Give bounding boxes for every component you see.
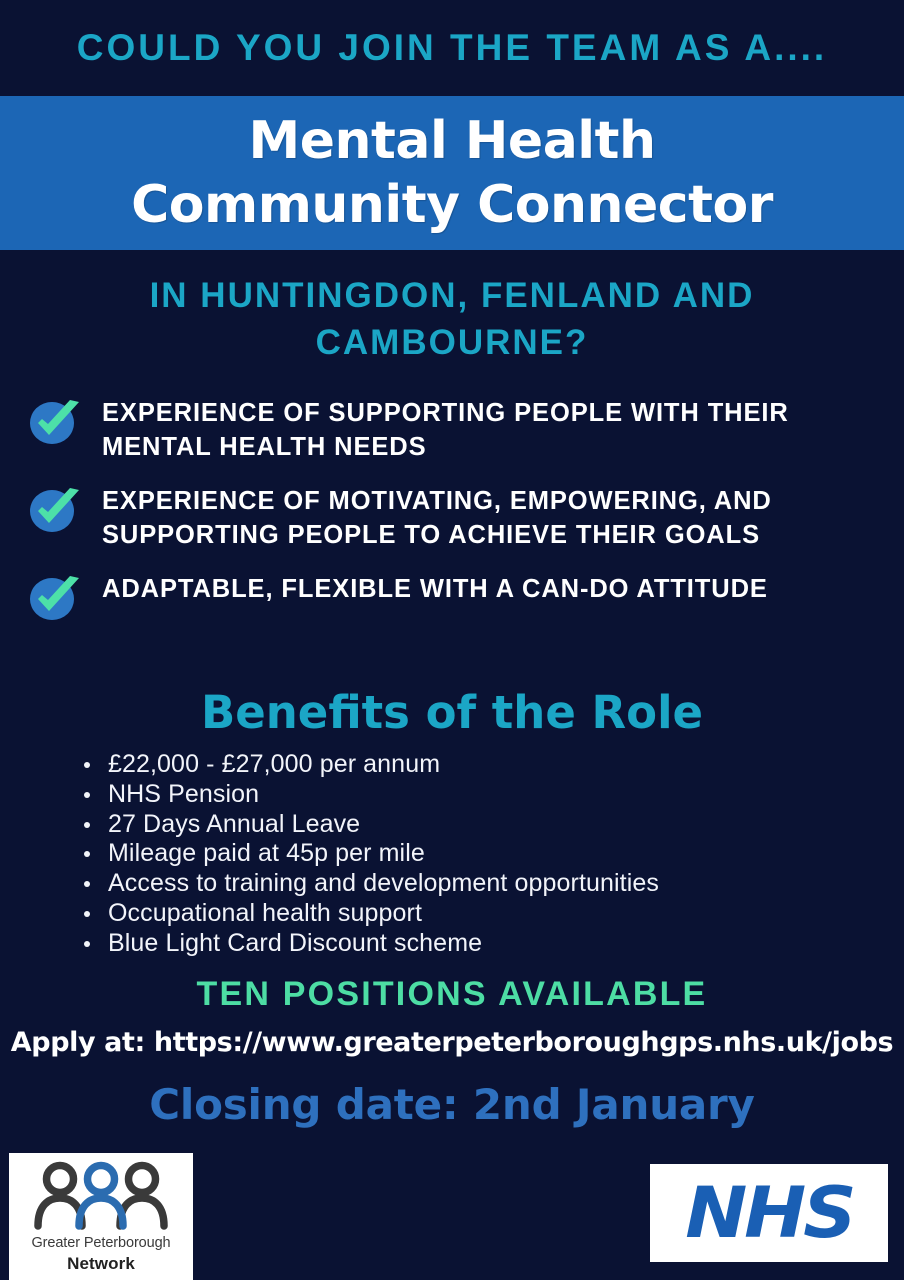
job-title-line-1: Mental Health bbox=[249, 109, 656, 173]
benefit-text: Access to training and development oppor… bbox=[108, 869, 659, 897]
nhs-logo: NHS bbox=[650, 1164, 888, 1262]
criteria-text: ADAPTABLE, FLEXIBLE WITH A CAN-DO ATTITU… bbox=[86, 570, 768, 606]
location-line-2: CAMBOURNE? bbox=[0, 319, 904, 366]
location-line-1: IN HUNTINGDON, FENLAND AND bbox=[0, 272, 904, 319]
benefit-text: 27 Days Annual Leave bbox=[108, 810, 360, 838]
benefit-text: Blue Light Card Discount scheme bbox=[108, 929, 482, 957]
benefit-item: Access to training and development oppor… bbox=[76, 869, 876, 899]
bullet-dot-icon bbox=[84, 762, 90, 768]
benefit-text: Mileage paid at 45p per mile bbox=[108, 839, 425, 867]
benefits-list: £22,000 - £27,000 per annum NHS Pension … bbox=[76, 750, 876, 959]
bullet-dot-icon bbox=[84, 911, 90, 917]
benefit-item: Mileage paid at 45p per mile bbox=[76, 839, 876, 869]
criteria-text: EXPERIENCE OF MOTIVATING, EMPOWERING, AN… bbox=[86, 482, 892, 552]
criteria-item: EXPERIENCE OF MOTIVATING, EMPOWERING, AN… bbox=[24, 482, 892, 552]
criteria-list: EXPERIENCE OF SUPPORTING PEOPLE WITH THE… bbox=[24, 394, 892, 640]
location-question: IN HUNTINGDON, FENLAND AND CAMBOURNE? bbox=[0, 272, 904, 366]
apply-url[interactable]: Apply at: https://www.greaterpeterboroug… bbox=[0, 1027, 904, 1058]
closing-date: Closing date: 2nd January bbox=[0, 1080, 904, 1129]
job-title-line-2: Community Connector bbox=[131, 173, 773, 237]
criteria-item: ADAPTABLE, FLEXIBLE WITH A CAN-DO ATTITU… bbox=[24, 570, 892, 622]
benefit-item: NHS Pension bbox=[76, 780, 876, 810]
eyebrow-headline: COULD YOU JOIN THE TEAM AS A.... bbox=[77, 27, 827, 69]
benefit-item: £22,000 - £27,000 per annum bbox=[76, 750, 876, 780]
benefit-text: Occupational health support bbox=[108, 899, 422, 927]
bullet-dot-icon bbox=[84, 881, 90, 887]
check-circle-icon bbox=[24, 396, 86, 446]
gpn-logo: Greater Peterborough Network bbox=[9, 1153, 193, 1280]
bullet-dot-icon bbox=[84, 792, 90, 798]
benefit-item: Occupational health support bbox=[76, 899, 876, 929]
three-people-icon bbox=[9, 1159, 193, 1231]
positions-available: TEN POSITIONS AVAILABLE bbox=[0, 975, 904, 1014]
benefit-text: £22,000 - £27,000 per annum bbox=[108, 750, 440, 778]
nhs-wordmark: NHS bbox=[685, 1177, 853, 1249]
benefits-heading: Benefits of the Role bbox=[0, 686, 904, 739]
bullet-dot-icon bbox=[84, 851, 90, 857]
recruitment-poster: COULD YOU JOIN THE TEAM AS A.... Mental … bbox=[0, 0, 904, 1280]
criteria-text: EXPERIENCE OF SUPPORTING PEOPLE WITH THE… bbox=[86, 394, 892, 464]
check-circle-icon bbox=[24, 484, 86, 534]
job-title-band: Mental Health Community Connector bbox=[0, 96, 904, 250]
criteria-item: EXPERIENCE OF SUPPORTING PEOPLE WITH THE… bbox=[24, 394, 892, 464]
benefit-text: NHS Pension bbox=[108, 780, 259, 808]
check-circle-icon bbox=[24, 572, 86, 622]
bullet-dot-icon bbox=[84, 822, 90, 828]
benefit-item: Blue Light Card Discount scheme bbox=[76, 929, 876, 959]
eyebrow-band: COULD YOU JOIN THE TEAM AS A.... bbox=[0, 0, 904, 96]
bullet-dot-icon bbox=[84, 941, 90, 947]
gpn-name: Greater Peterborough bbox=[9, 1235, 193, 1251]
benefit-item: 27 Days Annual Leave bbox=[76, 810, 876, 840]
gpn-subname: Network bbox=[9, 1254, 193, 1274]
